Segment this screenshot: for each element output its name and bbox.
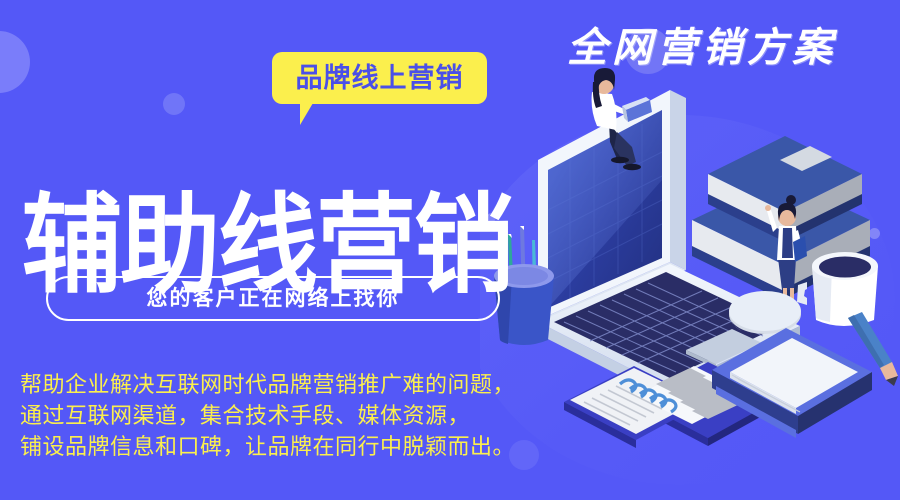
tagline-pill: 您的客户正在网络上找你 [46,276,500,321]
speech-bubble-tail [300,103,313,125]
speech-bubble-label: 品牌线上营销 [296,65,464,92]
computer-mouse [729,291,801,334]
body-copy-line-3: 铺设品牌信息和口碑，让品牌在同行中脱颖而出。 [20,431,580,462]
body-copy-line-1: 帮助企业解决互联网时代品牌营销推广难的问题， [20,369,580,400]
speech-bubble: 品牌线上营销 [272,52,487,104]
body-copy: 帮助企业解决互联网时代品牌营销推广难的问题， 通过互联网渠道，集合技术手段、媒体… [20,369,580,462]
deco-circle-mid [163,93,185,115]
brush-title: 全网营销方案 [567,28,867,68]
marketing-banner: 品牌线上营销 全网营销方案 辅助线营销 您的客户正在网络上找你 帮助企业解决互联… [0,0,900,500]
deco-circle-large-left [0,31,30,93]
body-copy-line-2: 通过互联网渠道，集合技术手段、媒体资源， [20,400,580,431]
tagline-label: 您的客户正在网络上找你 [147,288,400,309]
